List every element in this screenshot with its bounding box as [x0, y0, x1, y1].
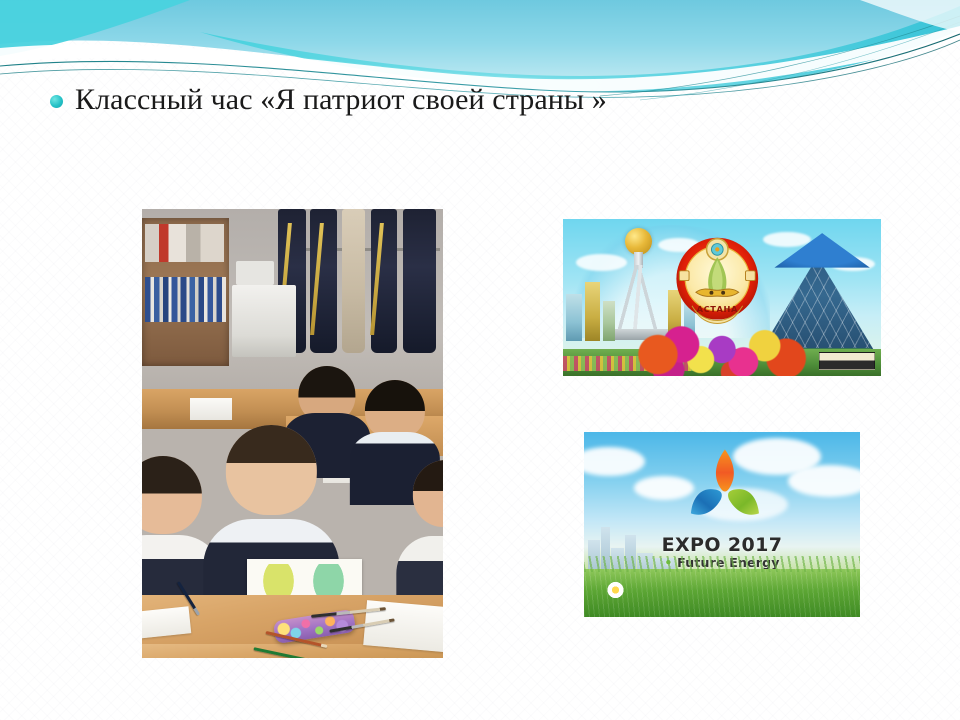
presentation-slide: Классный час «Я патриот своей страны »: [0, 0, 960, 720]
astana-emblem-text: АСТАНА: [697, 305, 738, 315]
uniform-costume: [403, 209, 437, 353]
pupil-hair: [413, 460, 443, 526]
pupil-hair: [226, 425, 316, 515]
astana-emblem: АСТАНА: [668, 228, 767, 325]
uniform-costume: [310, 209, 337, 353]
cloud-icon: [788, 465, 860, 496]
city-building: [603, 301, 616, 342]
desk-paper: [190, 398, 232, 420]
expo-logo-icon: [678, 447, 772, 532]
slide-title-row: Классный час «Я патриот своей страны »: [50, 84, 607, 116]
uniform-costume: [342, 209, 366, 353]
classroom-photo: [142, 209, 443, 658]
cloud-icon: [763, 232, 811, 248]
pupil-head: [226, 425, 316, 515]
uniform-costume: [371, 209, 398, 353]
astana-watermark: [819, 352, 875, 370]
daisy-flower-icon: [603, 580, 628, 600]
page-title: Классный час «Я патриот своей страны »: [75, 84, 607, 116]
shelf-books: [145, 328, 225, 361]
city-building: [585, 282, 599, 342]
shelf-papers: [145, 224, 224, 263]
astana-banner: АСТАНА: [563, 219, 881, 376]
pupil-head: [413, 460, 443, 526]
bookcase: [142, 218, 229, 366]
pupil-hair: [365, 380, 425, 440]
expo-title: EXPO 2017: [584, 536, 860, 555]
uniform-rack: [274, 209, 443, 353]
pupil-head: [142, 456, 202, 534]
pupil-head: [365, 380, 425, 440]
city-building: [566, 294, 582, 341]
classroom-scene: [142, 209, 443, 658]
sewing-machine: [232, 285, 295, 357]
pupil-hair: [142, 456, 202, 534]
bullet-dot-icon: [50, 95, 63, 108]
expo-2017-banner: EXPO 2017 • Future Energy Astana Kazakhs…: [584, 432, 860, 617]
shelf-binders: [145, 277, 225, 321]
desk-sheet: [142, 606, 191, 638]
astana-flowers: [633, 318, 811, 376]
